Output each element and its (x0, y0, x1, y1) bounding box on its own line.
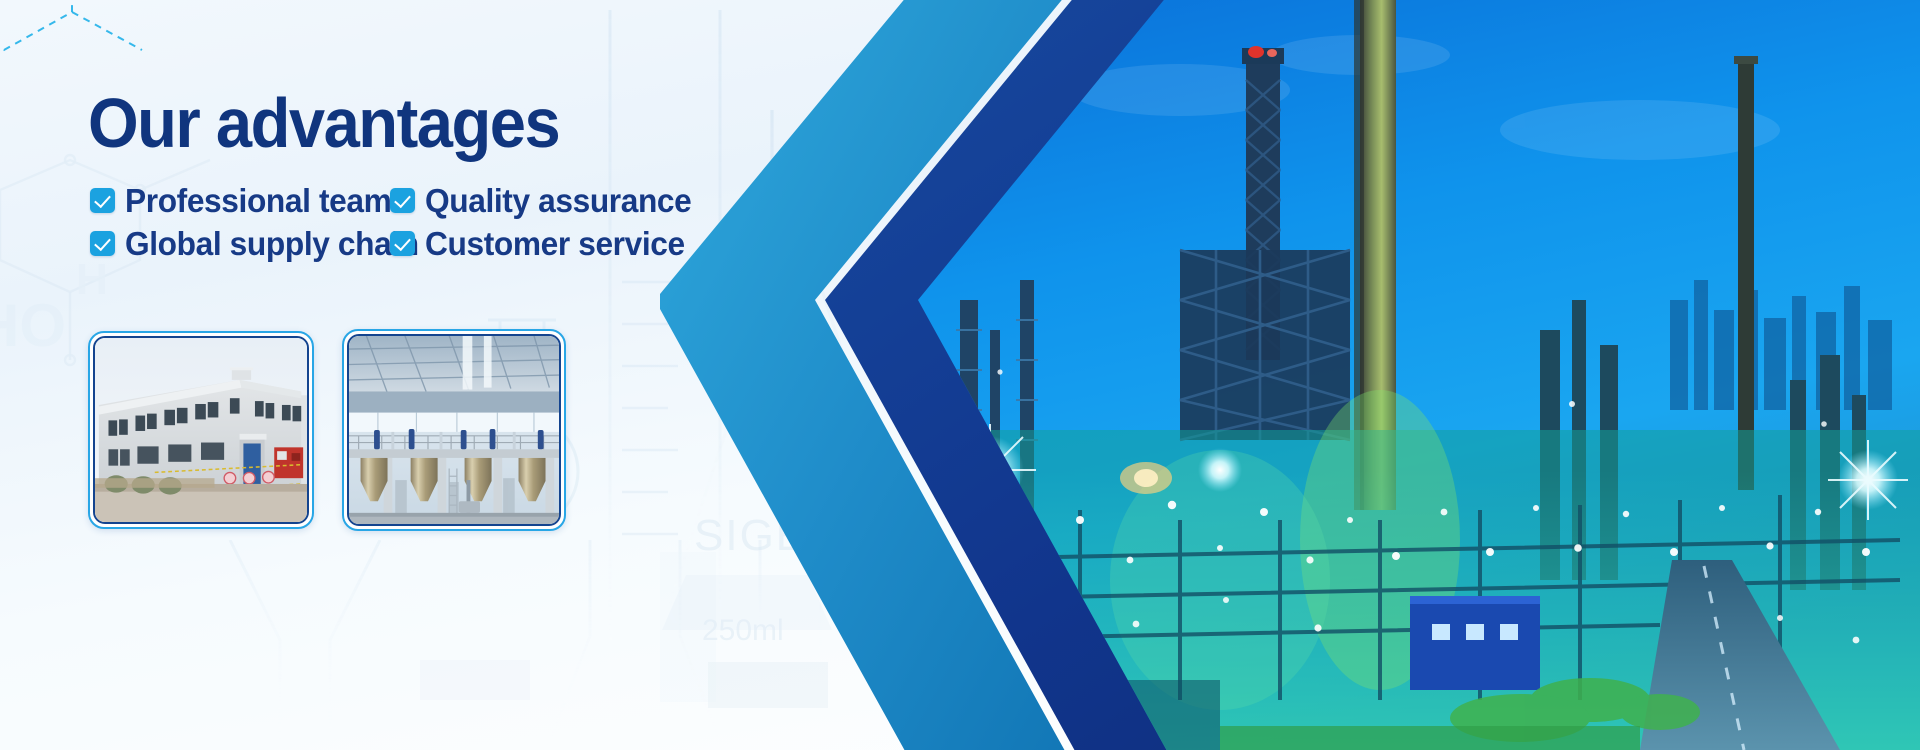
check-square-icon (90, 231, 115, 256)
photo-card-workshop-interior[interactable] (342, 329, 566, 531)
check-square-icon (90, 188, 115, 213)
advantage-item-professional-team[interactable]: Professional team (90, 184, 390, 217)
factory-exterior-photo (95, 338, 307, 522)
chevron-navy-accent (660, 0, 1920, 750)
chevron-cyan-accent (660, 0, 1920, 750)
refinery-hero-photo (660, 0, 1920, 750)
svg-text:250ml: 250ml (702, 614, 784, 647)
check-square-icon (390, 231, 415, 256)
advantage-label: Global supply chain (125, 227, 419, 260)
advantage-item-customer-service[interactable]: Customer service (390, 227, 703, 260)
photo-card-factory-exterior[interactable] (88, 331, 314, 529)
svg-text:H: H (76, 255, 108, 304)
workshop-interior-photo (349, 336, 559, 524)
advantage-item-quality-assurance[interactable]: Quality assurance (390, 184, 703, 217)
advantage-item-global-supply-chain[interactable]: Global supply chain (90, 227, 390, 260)
advantage-label: Customer service (425, 227, 685, 260)
advantages-list: Professional team Quality assurance Glob… (90, 184, 703, 260)
advantages-banner: SIGE 250ml HO H (0, 0, 1920, 750)
advantage-label: Quality assurance (425, 184, 691, 217)
svg-text:SIGE: SIGE (694, 511, 807, 560)
page-title: Our advantages (88, 88, 559, 158)
svg-text:HO: HO (0, 292, 66, 359)
advantage-label: Professional team (125, 184, 391, 217)
photo-card-frame (93, 336, 309, 524)
watermark-reflection (120, 540, 880, 750)
photo-card-frame (347, 334, 561, 526)
check-square-icon (390, 188, 415, 213)
